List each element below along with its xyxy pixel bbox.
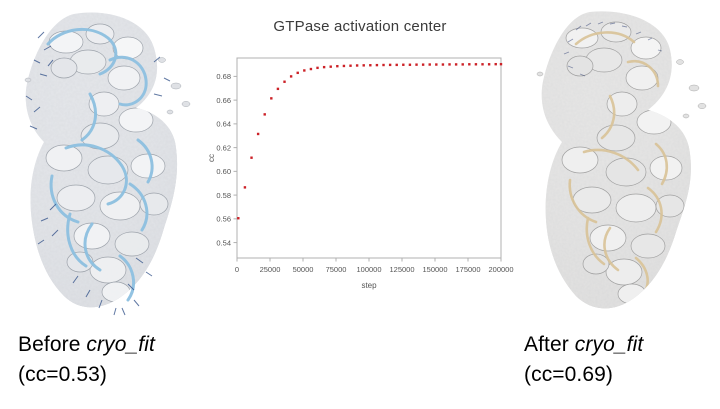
data-point (257, 133, 259, 135)
caption-after-italic: cryo_fit (575, 333, 644, 356)
data-point (303, 69, 305, 71)
data-point (389, 64, 391, 66)
data-point (500, 63, 502, 65)
data-point (290, 75, 292, 77)
data-point (264, 113, 266, 115)
plot-frame (237, 58, 501, 258)
x-tick-label: 200000 (488, 265, 513, 274)
data-point (462, 63, 464, 65)
x-axis-label: step (361, 281, 377, 290)
data-point (244, 186, 246, 188)
y-tick-label: 0.64 (216, 120, 231, 129)
y-tick-label: 0.58 (216, 191, 231, 200)
figure-canvas: GTPase activation center 025000500007500… (0, 0, 720, 409)
chart-plot-area: 0250005000075000100000125000150000175000… (205, 10, 515, 300)
caption-after: After cryo_fit (cc=0.69) (524, 330, 643, 390)
y-tick-label: 0.54 (216, 238, 231, 247)
y-axis-label: cc (207, 154, 216, 162)
data-point (409, 64, 411, 66)
caption-before: Before cryo_fit (cc=0.53) (18, 330, 155, 390)
data-point (363, 64, 365, 66)
y-tick-label: 0.62 (216, 143, 231, 152)
data-point (448, 63, 450, 65)
data-point (495, 63, 497, 65)
data-point (468, 63, 470, 65)
data-point (237, 217, 239, 219)
x-tick-label: 0 (235, 265, 239, 274)
data-point (323, 66, 325, 68)
data-point (349, 65, 351, 67)
data-point (283, 81, 285, 83)
x-tick-label: 50000 (293, 265, 314, 274)
y-tick-label: 0.66 (216, 96, 231, 105)
data-point (336, 65, 338, 67)
x-tick-label: 175000 (455, 265, 480, 274)
data-point (415, 63, 417, 65)
data-point (310, 68, 312, 70)
density-map-after (518, 8, 718, 320)
caption-after-prefix: After (524, 333, 575, 356)
density-map-before (4, 8, 204, 320)
data-point (422, 63, 424, 65)
cryoem-density-before-svg (4, 8, 204, 320)
data-point (481, 63, 483, 65)
data-point (297, 72, 299, 74)
data-point (330, 65, 332, 67)
caption-after-cc: (cc=0.69) (524, 360, 643, 390)
cc-vs-step-chart: GTPase activation center 025000500007500… (205, 10, 515, 300)
data-point (250, 157, 252, 159)
data-point (429, 63, 431, 65)
molecule-view-after (518, 8, 718, 320)
data-point (369, 64, 371, 66)
y-tick-label: 0.68 (216, 72, 231, 81)
data-point (488, 63, 490, 65)
chart-svg: 0250005000075000100000125000150000175000… (205, 10, 515, 300)
data-point (277, 88, 279, 90)
y-tick-label: 0.60 (216, 167, 231, 176)
caption-before-prefix: Before (18, 333, 86, 356)
data-point (270, 97, 272, 99)
data-point (442, 63, 444, 65)
y-tick-label: 0.56 (216, 215, 231, 224)
x-tick-label: 150000 (422, 265, 447, 274)
data-point (316, 67, 318, 69)
caption-before-cc: (cc=0.53) (18, 360, 155, 390)
data-point (402, 64, 404, 66)
x-tick-label: 25000 (260, 265, 281, 274)
data-point (343, 65, 345, 67)
data-point (376, 64, 378, 66)
data-point (455, 63, 457, 65)
x-tick-label: 100000 (356, 265, 381, 274)
molecule-view-before (4, 8, 204, 320)
data-point (435, 63, 437, 65)
data-point (475, 63, 477, 65)
x-tick-label: 75000 (326, 265, 347, 274)
cryoem-density-after-svg (518, 8, 718, 320)
data-point (382, 64, 384, 66)
data-point (396, 64, 398, 66)
data-point (356, 64, 358, 66)
caption-before-italic: cryo_fit (86, 333, 155, 356)
x-tick-label: 125000 (389, 265, 414, 274)
data-series-cc (237, 63, 502, 219)
